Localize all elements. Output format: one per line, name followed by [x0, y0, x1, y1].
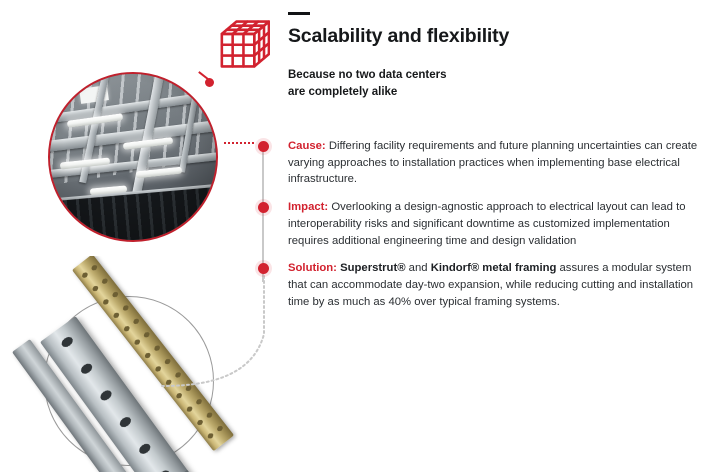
bullet-dot-icon	[258, 141, 269, 152]
list-item: Impact: Overlooking a design-agnostic ap…	[258, 199, 704, 249]
bullet-dot-icon	[258, 202, 269, 213]
page-title: Scalability and flexibility	[288, 25, 704, 47]
item-brand-2: Kindorf® metal framing	[431, 262, 557, 274]
subtitle-line-2: are completely alike	[288, 84, 704, 100]
data-center-ceiling-photo	[48, 72, 218, 242]
item-label: Cause:	[288, 140, 326, 152]
item-label: Solution:	[288, 262, 337, 274]
subtitle-line-1: Because no two data centers	[288, 67, 704, 83]
infographic-root: Scalability and flexibility Because no t…	[0, 0, 704, 472]
item-text: Impact: Overlooking a design-agnostic ap…	[288, 199, 704, 249]
list-item: Solution: Superstrut® and Kindorf® metal…	[258, 260, 704, 310]
subtitle: Because no two data centers are complete…	[288, 67, 704, 100]
photo-vignette	[50, 74, 216, 240]
title-rule	[288, 12, 310, 15]
item-brand-1: Superstrut®	[340, 262, 405, 274]
header-block: Scalability and flexibility Because no t…	[288, 0, 704, 100]
cube-icon	[214, 16, 270, 72]
cause-impact-solution-list: Cause: Differing facility requirements a…	[258, 138, 704, 321]
item-body: Overlooking a design-agnostic approach t…	[288, 201, 686, 246]
item-text: Solution: Superstrut® and Kindorf® metal…	[288, 260, 704, 310]
dotted-connector-horizontal	[224, 142, 254, 144]
list-item: Cause: Differing facility requirements a…	[258, 138, 704, 188]
item-body: Differing facility requirements and futu…	[288, 140, 697, 185]
ceiling-scene	[50, 74, 216, 240]
bullet-dot-icon	[258, 263, 269, 274]
item-text: Cause: Differing facility requirements a…	[288, 138, 704, 188]
item-conjunction: and	[406, 262, 431, 274]
map-pin-dot-icon	[205, 78, 214, 87]
item-label: Impact:	[288, 201, 328, 213]
